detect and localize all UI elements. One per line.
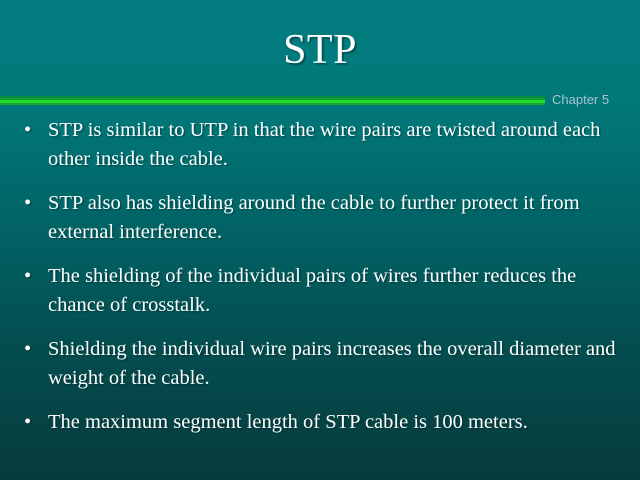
- bullet-point-icon: •: [24, 408, 38, 437]
- list-item-text: STP is similar to UTP in that the wire p…: [48, 116, 628, 174]
- title-divider-bar: [0, 95, 545, 106]
- bullet-point-icon: •: [24, 262, 38, 291]
- list-item: • STP also has shielding around the cabl…: [14, 189, 628, 247]
- chapter-label: Chapter 5: [552, 92, 609, 108]
- list-item: • The maximum segment length of STP cabl…: [14, 408, 628, 437]
- list-item: • STP is similar to UTP in that the wire…: [14, 116, 628, 174]
- bullet-point-icon: •: [24, 335, 38, 364]
- list-item-text: STP also has shielding around the cable …: [48, 189, 628, 247]
- presentation-slide: STP Chapter 5 • STP is similar to UTP in…: [0, 0, 640, 480]
- page-title: STP: [283, 26, 357, 74]
- list-item-text: The shielding of the individual pairs of…: [48, 262, 628, 320]
- bullet-point-icon: •: [24, 116, 38, 145]
- bullet-point-icon: •: [24, 189, 38, 218]
- list-item-text: Shielding the individual wire pairs incr…: [48, 335, 628, 393]
- list-item: • Shielding the individual wire pairs in…: [14, 335, 628, 393]
- list-item-text: The maximum segment length of STP cable …: [48, 408, 628, 437]
- bullet-list: • STP is similar to UTP in that the wire…: [14, 116, 628, 452]
- divider-band-lower-mid: [0, 103, 545, 105]
- slide-title-area: STP: [0, 26, 640, 74]
- list-item: • The shielding of the individual pairs …: [14, 262, 628, 320]
